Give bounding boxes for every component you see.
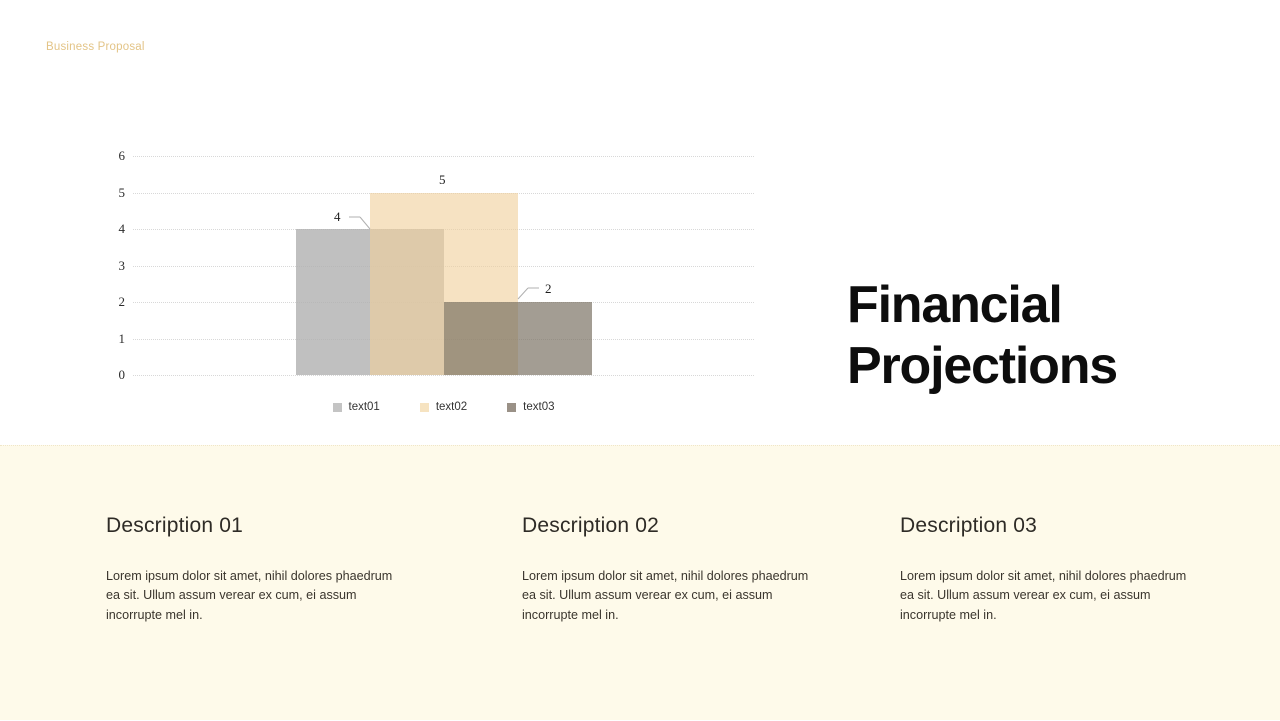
description-column-2: Description 02 Lorem ipsum dolor sit ame…: [522, 514, 812, 625]
page-title: Financial Projections: [847, 275, 1247, 398]
description-heading: Description 01: [106, 514, 396, 538]
descriptions-columns: Description 01 Lorem ipsum dolor sit ame…: [0, 446, 1280, 721]
description-body: Lorem ipsum dolor sit amet, nihil dolore…: [522, 567, 812, 625]
legend-item-text02[interactable]: text02: [420, 401, 467, 413]
page-title-line-1: Financial: [847, 275, 1247, 336]
financial-projections-chart: 6 5 4 3 2 1 0 4 5 2 text01 text02: [0, 0, 800, 445]
legend-label: text03: [523, 401, 554, 413]
description-body: Lorem ipsum dolor sit amet, nihil dolore…: [106, 567, 396, 625]
description-column-1: Description 01 Lorem ipsum dolor sit ame…: [106, 514, 396, 625]
data-label-text03: 2: [545, 281, 552, 297]
page-title-line-2: Projections: [847, 336, 1247, 397]
legend-swatch-icon: [333, 403, 342, 412]
description-heading: Description 03: [900, 514, 1190, 538]
legend-label: text01: [349, 401, 380, 413]
description-column-3: Description 03 Lorem ipsum dolor sit ame…: [900, 514, 1190, 625]
legend-swatch-icon: [420, 403, 429, 412]
chart-legend: text01 text02 text03: [133, 401, 754, 413]
legend-label: text02: [436, 401, 467, 413]
description-body: Lorem ipsum dolor sit amet, nihil dolore…: [900, 567, 1190, 625]
descriptions-panel: Description 01 Lorem ipsum dolor sit ame…: [0, 445, 1280, 720]
data-label-text01: 4: [334, 209, 341, 225]
data-label-leader-lines: [0, 0, 800, 445]
legend-swatch-icon: [507, 403, 516, 412]
legend-item-text03[interactable]: text03: [507, 401, 554, 413]
legend-item-text01[interactable]: text01: [333, 401, 380, 413]
description-heading: Description 02: [522, 514, 812, 538]
data-label-text02: 5: [439, 172, 446, 188]
